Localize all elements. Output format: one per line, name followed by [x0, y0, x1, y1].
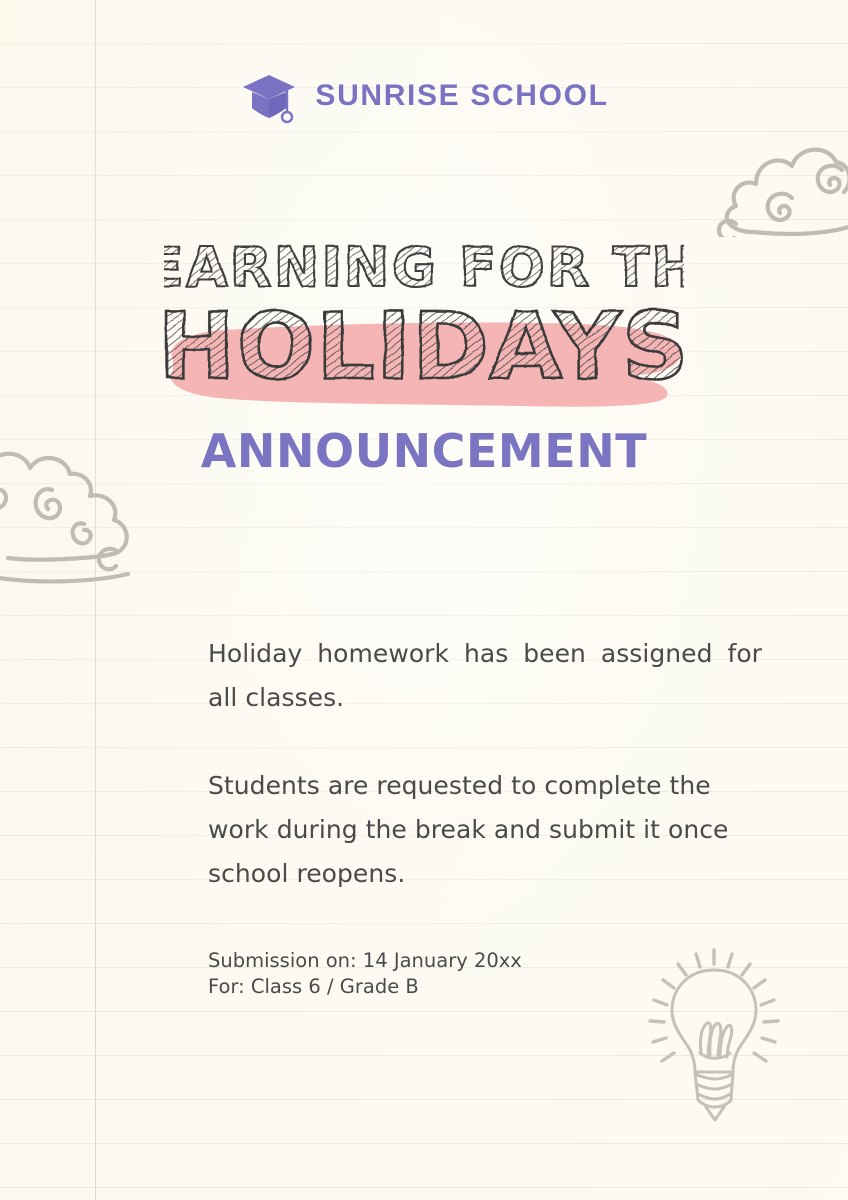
brand-header: SUNRISE SCHOOL [0, 66, 848, 126]
hero-line-one: LEARNING FOR THE [0, 236, 848, 298]
hero-line-two-text: HOLIDAYS [158, 296, 690, 400]
cloud-doodle-icon [694, 112, 848, 237]
hero-line-two: HOLIDAYS [0, 296, 848, 401]
notebook-rule-lines [0, 0, 848, 1200]
school-name: SUNRISE SCHOOL [315, 81, 608, 111]
graduation-cap-icon [239, 66, 299, 126]
body-copy: Holiday homework has been assigned for a… [208, 632, 762, 1000]
details-block: Submission on: 14 January 20xx For: Clas… [208, 948, 762, 1000]
hero-line-one-sketch: LEARNING FOR THE [164, 236, 684, 298]
page-title: ANNOUNCEMENT [0, 428, 848, 474]
paragraph-2: Students are requested to complete the w… [208, 764, 762, 896]
hero-line-one-text: LEARNING FOR THE [164, 236, 684, 298]
announcement-poster: SUNRISE SCHOOL LEARNING FOR THE [0, 0, 848, 1200]
audience-class: For: Class 6 / Grade B [208, 974, 762, 1000]
hero-title-block: LEARNING FOR THE HOLIDA [0, 236, 848, 401]
notebook-margin-line [95, 0, 96, 1200]
paragraph-1: Holiday homework has been assigned for a… [208, 632, 762, 720]
submission-date: Submission on: 14 January 20xx [208, 948, 762, 974]
paper-texture-overlay [0, 0, 848, 1200]
hero-line-two-sketch: HOLIDAYS [154, 296, 694, 401]
